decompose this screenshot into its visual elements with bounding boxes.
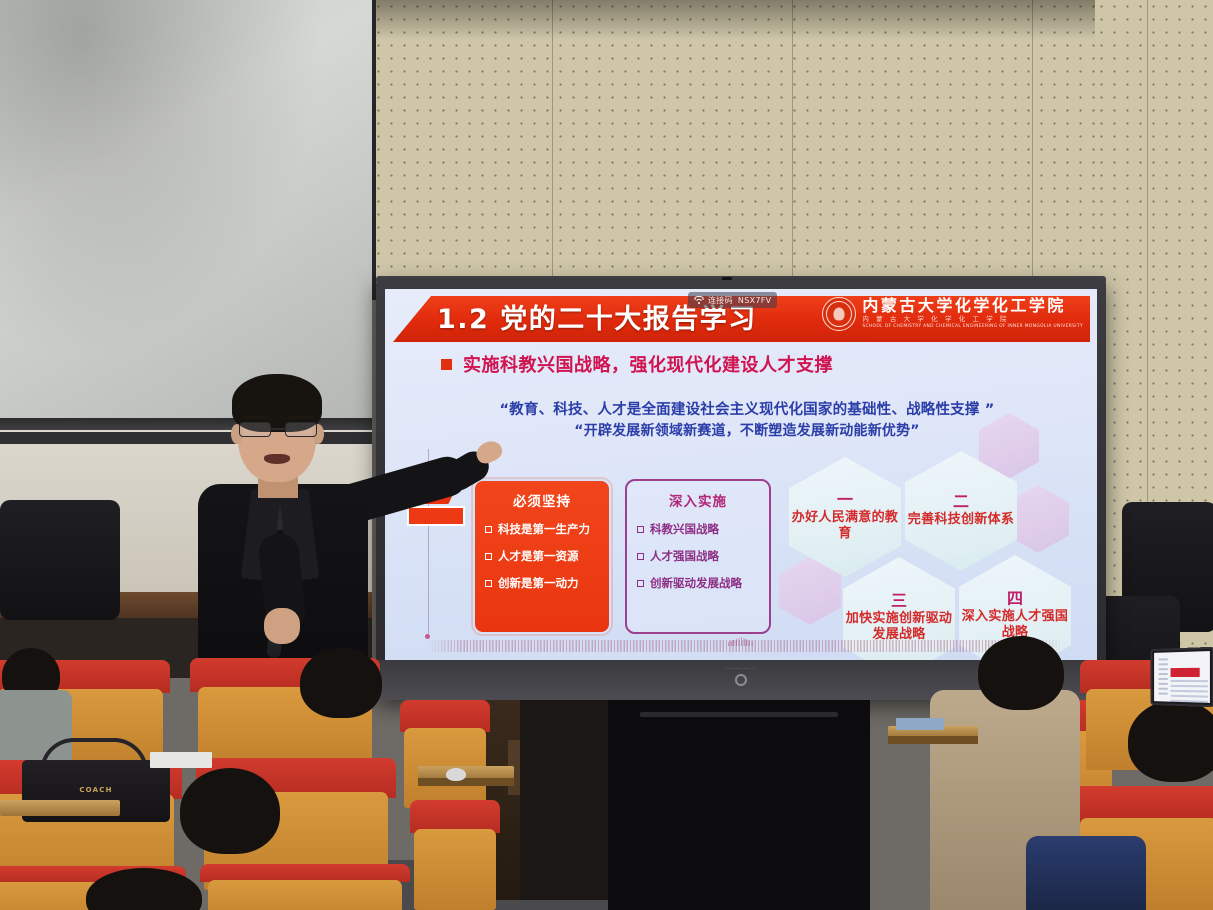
bag-brand-label: COACH xyxy=(79,786,112,794)
seat-row-front-left-2 xyxy=(200,864,410,910)
laptop-content-body xyxy=(1171,680,1208,703)
wifi-icon xyxy=(694,296,703,304)
audience-coat-blue xyxy=(1026,836,1146,910)
presenter-eyebrow-right xyxy=(288,416,314,419)
item-label: 科教兴国战略 xyxy=(650,521,719,537)
projection-screen xyxy=(0,0,372,425)
hexagon-one-number: 一 xyxy=(837,492,853,508)
slide-footer-crest xyxy=(728,637,754,646)
desk-right-edge xyxy=(888,736,978,744)
laptop-content-highlight xyxy=(1171,668,1200,677)
seat-row-back-left-3 xyxy=(400,700,490,808)
checkbox-icon xyxy=(637,526,644,533)
item-label: 人才是第一资源 xyxy=(498,548,579,564)
university-name-en: SCHOOL OF CHEMISTRY AND CHEMICAL ENGINEE… xyxy=(862,325,1083,330)
laptop-screen xyxy=(1154,651,1210,703)
connection-code-badge[interactable]: 连接码 NSX7FV xyxy=(688,292,777,308)
display-ir-sensor xyxy=(735,674,747,686)
display-stand-cabinet xyxy=(608,700,870,910)
hexagon-one: 一 办好人民满意的教育 xyxy=(789,457,901,577)
box-deep-implementation-item-2: 人才强国战略 xyxy=(637,548,769,564)
box-deep-implementation-item-1: 科教兴国战略 xyxy=(637,521,769,537)
checkbox-icon xyxy=(637,553,644,560)
item-label: 创新是第一动力 xyxy=(498,575,579,591)
box-deep-implementation: 深入实施 科教兴国战略 人才强国战略 创新驱动发展战略 xyxy=(625,479,771,634)
laptop[interactable] xyxy=(1151,647,1213,708)
hexagon-three-number: 三 xyxy=(891,593,907,609)
slide-quotes: “教育、科技、人才是全面建设社会主义现代化国家的基础性、战略性支撑 ” “开辟发… xyxy=(427,399,1067,443)
box-must-uphold-title: 必须坚持 xyxy=(475,490,609,510)
desk-left xyxy=(0,800,120,816)
computer-mouse xyxy=(446,768,466,781)
presenter-mouth xyxy=(264,454,290,464)
display-brand-label: ············ xyxy=(725,666,756,672)
ceiling-shadow xyxy=(372,0,1213,40)
university-logo: 内蒙古大学化学化工学院 内 蒙 古 大 学 化 学 化 工 学 院 SCHOOL… xyxy=(822,297,1083,331)
slide-subheading-text: 实施科教兴国战略，强化现代化建设人才支撑 xyxy=(463,351,833,377)
display-screen[interactable]: 1.2 党的二十大报告学习 连接码 NSX7FV 内蒙古大学化学化工学院 内 蒙… xyxy=(385,289,1097,660)
box-must-uphold-item-2: 人才是第一资源 xyxy=(485,548,609,564)
bullet-square-icon xyxy=(441,359,452,370)
audience-head-6 xyxy=(1128,700,1213,782)
hexagon-four-number: 四 xyxy=(1007,591,1023,607)
box-deep-implementation-item-3: 创新驱动发展战略 xyxy=(637,575,769,591)
connection-code-value: NSX7FV xyxy=(738,296,772,305)
checkbox-icon xyxy=(637,580,644,587)
presenter-hand-holding-mic xyxy=(264,608,300,644)
box-must-uphold-item-1: 科技是第一生产力 xyxy=(485,521,609,537)
quote-line-2: “开辟发展新领域新赛道，不断塑造发展新动能新优势” xyxy=(427,421,1067,443)
hexagon-two-number: 二 xyxy=(953,494,969,510)
university-logo-text: 内蒙古大学化学化工学院 内 蒙 古 大 学 化 学 化 工 学 院 SCHOOL… xyxy=(862,298,1083,329)
university-seal-icon xyxy=(822,297,856,331)
eyeglasses-icon xyxy=(238,422,318,438)
display-stand-vent xyxy=(640,712,838,717)
presenter-eyebrow-left xyxy=(242,416,268,419)
hexagon-one-label: 办好人民满意的教育 xyxy=(789,510,901,542)
desk-center-left-edge xyxy=(418,778,514,786)
audience-head-5 xyxy=(978,636,1064,710)
seat-row-mid-left-3 xyxy=(410,800,500,910)
display-pedestal xyxy=(520,700,610,900)
executive-chair-left xyxy=(0,500,120,620)
audience-head-2 xyxy=(300,648,382,718)
quote-line-1: “教育、科技、人才是全面建设社会主义现代化国家的基础性、战略性支撑 ” xyxy=(427,399,1067,421)
slide-subheading: 实施科教兴国战略，强化现代化建设人才支撑 xyxy=(441,351,833,377)
papers-on-desk xyxy=(150,752,212,768)
lecture-hall-screenshot: 1.2 党的二十大报告学习 连接码 NSX7FV 内蒙古大学化学化工学院 内 蒙… xyxy=(0,0,1213,910)
presentation-slide: 1.2 党的二十大报告学习 连接码 NSX7FV 内蒙古大学化学化工学院 内 蒙… xyxy=(385,289,1097,660)
box-deep-implementation-title: 深入实施 xyxy=(627,490,769,510)
item-label: 人才强国战略 xyxy=(650,548,719,564)
university-name-cn-small: 内 蒙 古 大 学 化 学 化 工 学 院 xyxy=(862,316,1083,323)
audience-head-3 xyxy=(180,768,280,854)
acoustic-wall-panel-upper xyxy=(372,0,1213,300)
papers-right-desk xyxy=(896,718,944,730)
box-must-uphold-item-3: 创新是第一动力 xyxy=(485,575,609,591)
hexagon-two-label: 完善科技创新体系 xyxy=(908,512,1014,528)
hexagon-three-label: 加快实施创新驱动发展战略 xyxy=(843,611,955,643)
item-label: 科技是第一生产力 xyxy=(498,521,590,537)
university-name-cn: 内蒙古大学化学化工学院 xyxy=(862,298,1083,315)
laptop-content-sidebar xyxy=(1159,658,1168,697)
box-must-uphold: 必须坚持 科技是第一生产力 人才是第一资源 创新是第一动力 xyxy=(473,479,611,634)
item-label: 创新驱动发展战略 xyxy=(650,575,742,591)
connection-code-label: 连接码 xyxy=(708,295,733,306)
